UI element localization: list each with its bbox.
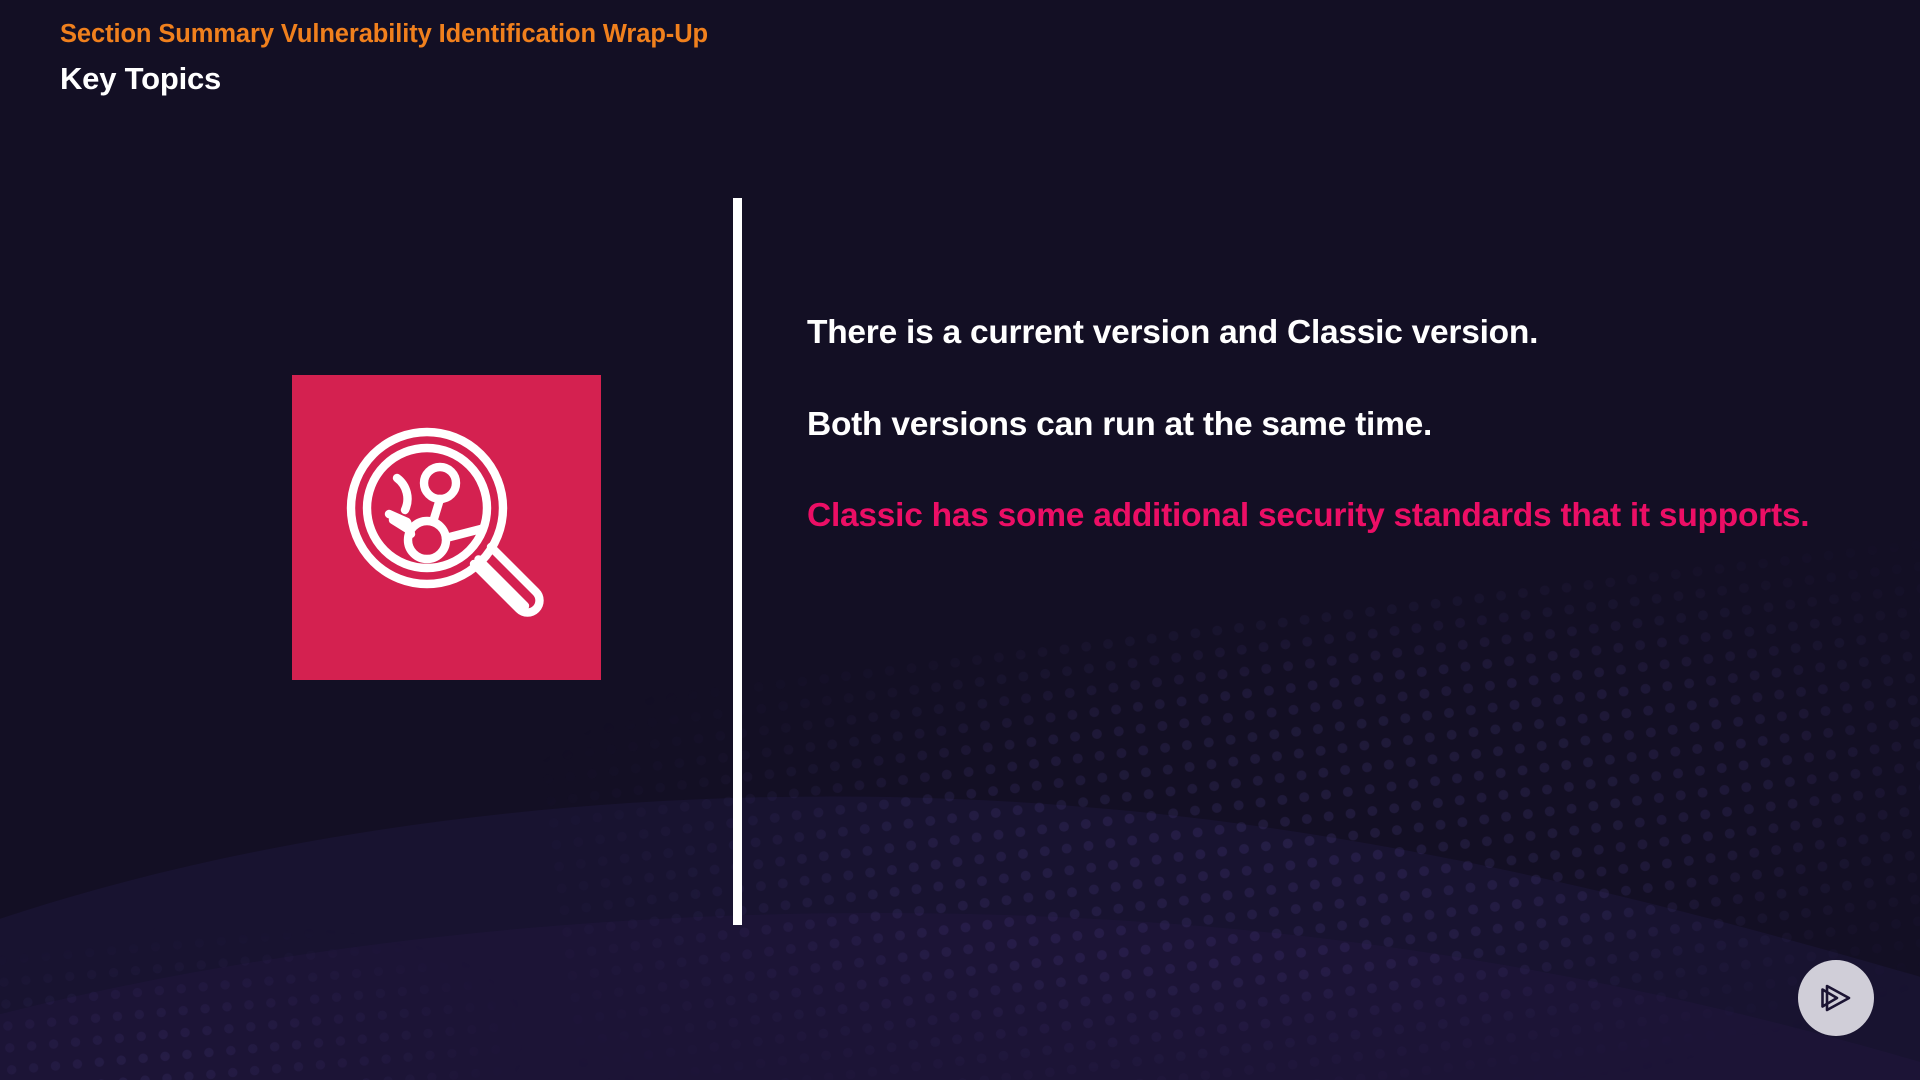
- key-topic-1: There is a current version and Classic v…: [807, 310, 1837, 356]
- page-title: Key Topics: [60, 61, 708, 97]
- section-eyebrow: Section Summary Vulnerability Identifica…: [60, 20, 708, 48]
- slide-header: Section Summary Vulnerability Identifica…: [60, 20, 708, 97]
- key-topic-3: Classic has some additional security sta…: [807, 493, 1837, 539]
- background-swoosh: [0, 700, 1920, 1080]
- pluralsight-play-logo[interactable]: [1798, 960, 1874, 1036]
- play-triangle-icon: [1815, 977, 1857, 1019]
- magnifying-glass-germs-icon-tile: [292, 375, 601, 680]
- halftone-pattern-left: [0, 850, 708, 1080]
- slide-root: Section Summary Vulnerability Identifica…: [0, 0, 1920, 1080]
- key-topics-list: There is a current version and Classic v…: [807, 310, 1837, 539]
- magnifying-glass-germs-icon: [341, 422, 553, 634]
- key-topic-2: Both versions can run at the same time.: [807, 402, 1837, 448]
- vertical-divider: [733, 198, 742, 925]
